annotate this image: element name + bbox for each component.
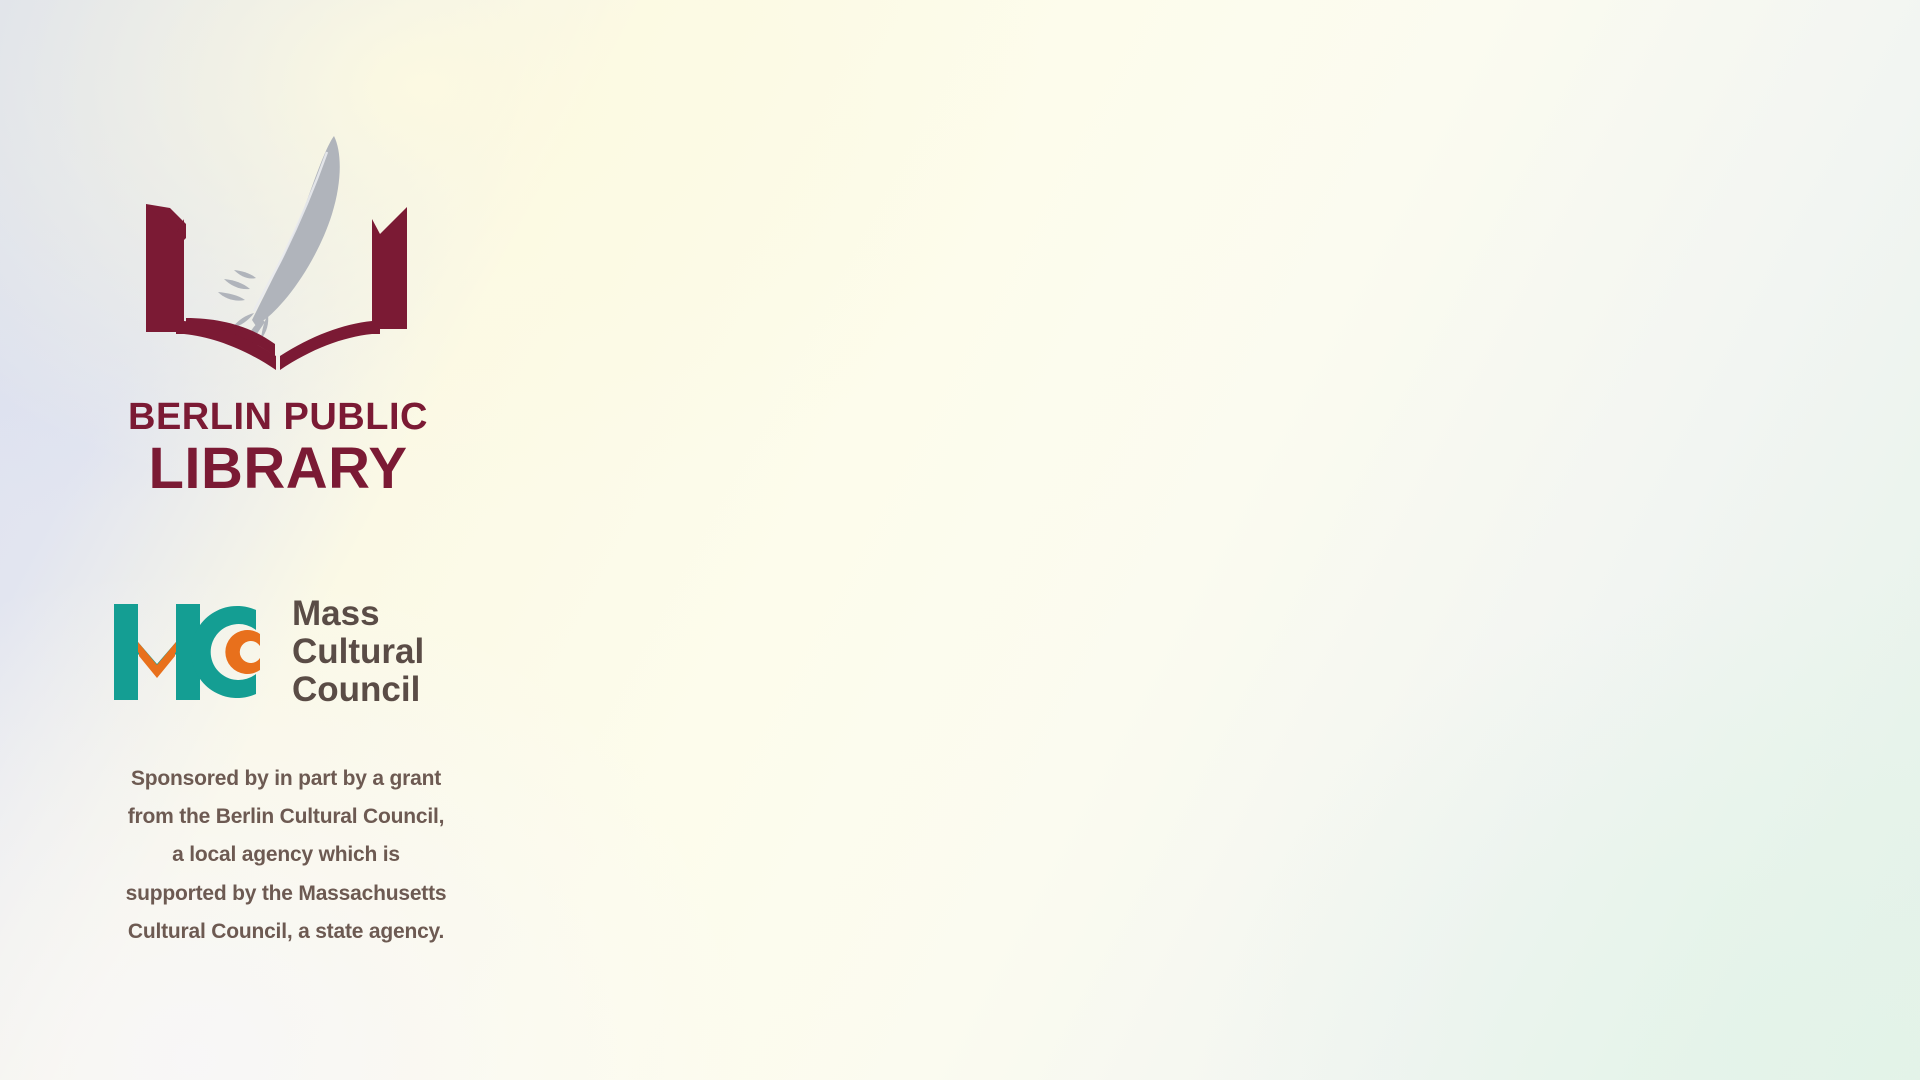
sponsor-line-5: Cultural Council, a state agency.	[86, 913, 486, 951]
event-poster: BERLIN PUBLIC LIBRARY Mass	[0, 0, 1920, 1080]
mcc-word-line1: Mass	[292, 595, 424, 633]
sponsor-line-4: supported by the Massachusetts	[86, 875, 486, 913]
library-name-line1: BERLIN PUBLIC	[118, 398, 438, 436]
mcc-word-line3: Council	[292, 671, 424, 709]
mass-cultural-council-logo: Mass Cultural Council	[108, 592, 478, 712]
mcc-wordmark: Mass Cultural Council	[292, 595, 424, 708]
mcc-monogram-icon	[108, 596, 276, 708]
berlin-public-library-logo: BERLIN PUBLIC LIBRARY	[118, 130, 438, 498]
library-name-line2: LIBRARY	[118, 440, 438, 498]
open-book-quill-icon	[128, 130, 428, 390]
mcc-word-line2: Cultural	[292, 633, 424, 671]
sponsor-line-3: a local agency which is	[86, 836, 486, 874]
sponsorship-statement: Sponsored by in part by a grant from the…	[86, 760, 486, 951]
sponsor-line-1: Sponsored by in part by a grant	[86, 760, 486, 798]
sponsor-line-2: from the Berlin Cultural Council,	[86, 798, 486, 836]
sponsor-column: BERLIN PUBLIC LIBRARY Mass	[0, 0, 540, 1080]
